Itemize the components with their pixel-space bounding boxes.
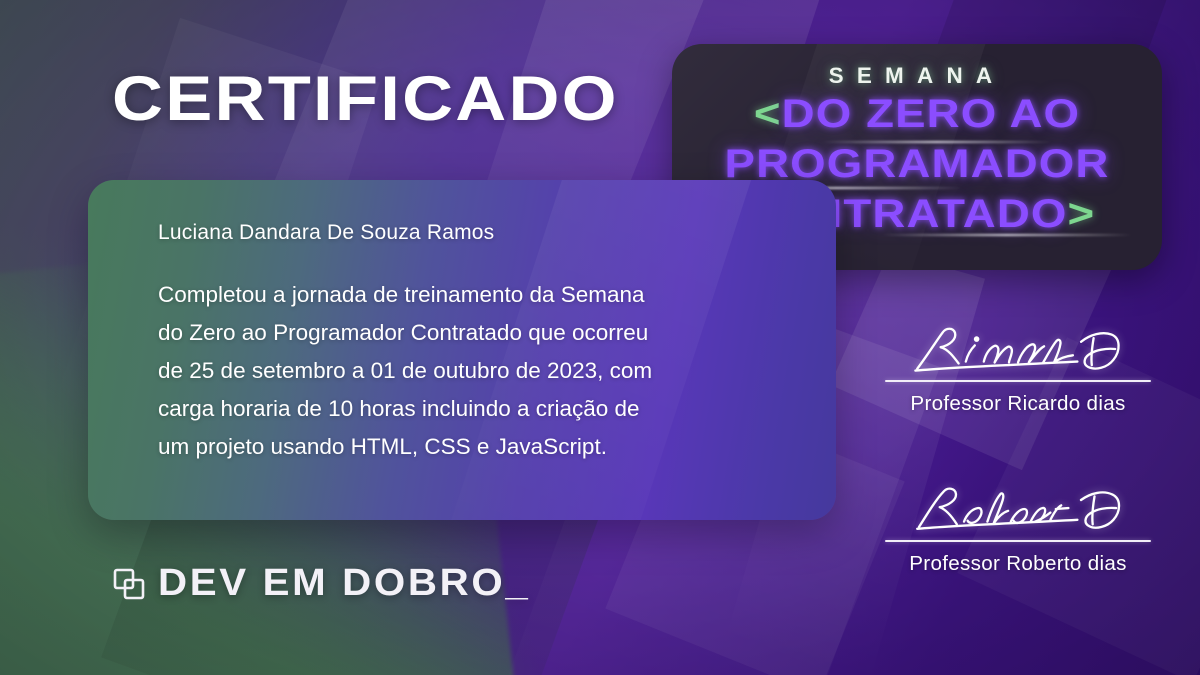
signature-name: Professor Ricardo dias <box>881 393 1155 416</box>
overlapping-squares-icon <box>112 567 146 601</box>
signature-name: Professor Roberto dias <box>881 553 1155 576</box>
angle-bracket-open-icon: < <box>754 92 782 136</box>
signature-block-ricardo: Professor Ricardo dias <box>885 322 1151 416</box>
angle-bracket-close-icon: > <box>1068 192 1096 236</box>
signature-rule <box>885 380 1151 382</box>
page-title: CERTIFICADO <box>112 63 619 135</box>
signature-ricardo-icon <box>901 322 1135 376</box>
certificate-canvas: CERTIFICADO SEMANA <DO ZERO AO PROGRAMAD… <box>0 0 1200 675</box>
brand-logo: DEV EM DOBRO_ <box>112 562 509 605</box>
signature-rule <box>885 540 1151 542</box>
badge-eyebrow: SEMANA <box>672 63 1162 89</box>
brand-name: DEV EM DOBRO_ <box>158 562 530 605</box>
description-line: Completou a jornada de treinamento da Se… <box>158 276 778 314</box>
description-line: carga horaria de 10 horas incluindo a cr… <box>158 390 778 428</box>
signature-block-roberto: Professor Roberto dias <box>885 482 1151 576</box>
signature-roberto-icon <box>901 482 1135 536</box>
recipient-name: Luciana Dandara De Souza Ramos <box>158 221 494 245</box>
description-line: do Zero ao Programador Contratado que oc… <box>158 314 778 352</box>
badge-line-1: <DO ZERO AO <box>672 89 1162 139</box>
description-line: de 25 de setembro a 01 de outubro de 202… <box>158 352 778 390</box>
certificate-description: Completou a jornada de treinamento da Se… <box>158 276 778 466</box>
certificate-body-card: Luciana Dandara De Souza Ramos Completou… <box>88 180 836 520</box>
badge-line-1-text: DO ZERO AO <box>782 92 1081 136</box>
description-line: um projeto usando HTML, CSS e JavaScript… <box>158 428 778 466</box>
